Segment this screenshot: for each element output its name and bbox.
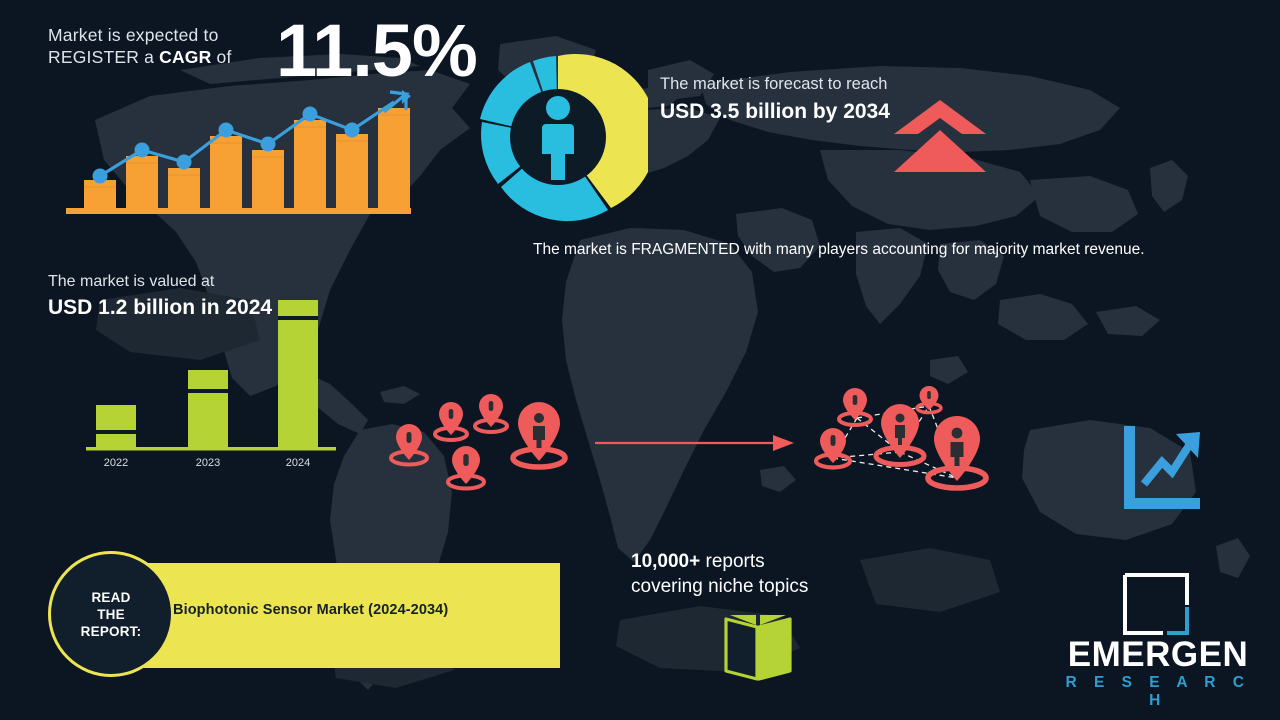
forecast-value: USD 3.5 billion by 2034 (660, 99, 900, 125)
forecast-lead-text: The market is forecast to reach (660, 74, 900, 95)
read-the-report-button[interactable]: READ THE REPORT: (48, 551, 174, 677)
map-pin-person-icon (513, 402, 565, 467)
reports-count-number: 10,000+ (631, 551, 700, 572)
report-circle-line1: READ (91, 590, 130, 605)
valued-lead-text: The market is valued at (48, 272, 308, 292)
bar-2022-stripe (96, 430, 136, 434)
double-chevron-up-icon (890, 98, 990, 178)
report-circle-line2: THE (97, 607, 125, 622)
reports-count-block: 10,000+ reports covering niche topics (631, 549, 931, 599)
bar-2023-stripe (188, 389, 228, 393)
fragmented-market-text: The market is FRAGMENTED with many playe… (533, 238, 1223, 261)
year-label-2023: 2023 (196, 457, 220, 469)
cagr-lead-text: Market is expected to REGISTER a CAGR of (48, 24, 258, 68)
logo-wordmark: EMERGEN (1058, 636, 1258, 674)
reports-count-line1: 10,000+ reports (631, 549, 931, 574)
report-circle-line3: REPORT: (81, 624, 142, 639)
read-the-report-label: READ THE REPORT: (81, 589, 142, 640)
market-share-donut (468, 50, 648, 225)
report-title: Biophotonic Sensor Market (2024-2034) (173, 602, 543, 618)
chart-baseline (66, 208, 411, 214)
open-book-icon (720, 613, 796, 681)
year-label-2024: 2024 (286, 457, 310, 469)
cagr-value: 11.5% (276, 10, 477, 92)
connected-map-pins-network (805, 386, 1010, 496)
green-chart-baseline (86, 447, 336, 451)
bar-2024-stripe (278, 316, 318, 320)
infographic-canvas: Market is expected to REGISTER a CAGR of… (0, 0, 1280, 720)
market-value-bar-chart: 2022 2023 2024 (78, 292, 343, 472)
map-pin-person-icon (475, 394, 507, 432)
map-pin-person-icon (816, 428, 850, 468)
square-bracket-mark-icon (1122, 572, 1190, 636)
logo-subtitle: R E S E A R C H (1058, 674, 1258, 710)
growth-chart-icon (1118, 422, 1206, 514)
year-label-2022: 2022 (104, 457, 128, 469)
reports-count-line2: covering niche topics (631, 574, 931, 599)
right-arrow-icon (595, 432, 795, 454)
bar-2022 (96, 405, 136, 447)
cagr-lead-line1: Market is expected to (48, 25, 219, 45)
map-pin-person-icon (876, 404, 924, 465)
scattered-map-pins (383, 386, 578, 491)
bar-2024 (278, 300, 318, 447)
cagr-keyword: CAGR (159, 47, 211, 67)
cagr-lead-line2-pre: REGISTER a (48, 47, 159, 67)
map-pin-person-icon (448, 446, 484, 489)
map-pin-person-icon (917, 386, 941, 413)
cagr-lead-line2-post: of (211, 47, 231, 67)
bar-2023 (188, 370, 228, 447)
map-pin-person-icon (435, 402, 467, 440)
reports-count-suffix: reports (700, 551, 764, 572)
map-pin-person-icon (839, 388, 871, 425)
map-pin-person-icon (391, 424, 427, 465)
growth-bar-chart (66, 88, 411, 218)
forecast-block: The market is forecast to reach USD 3.5 … (660, 74, 900, 125)
